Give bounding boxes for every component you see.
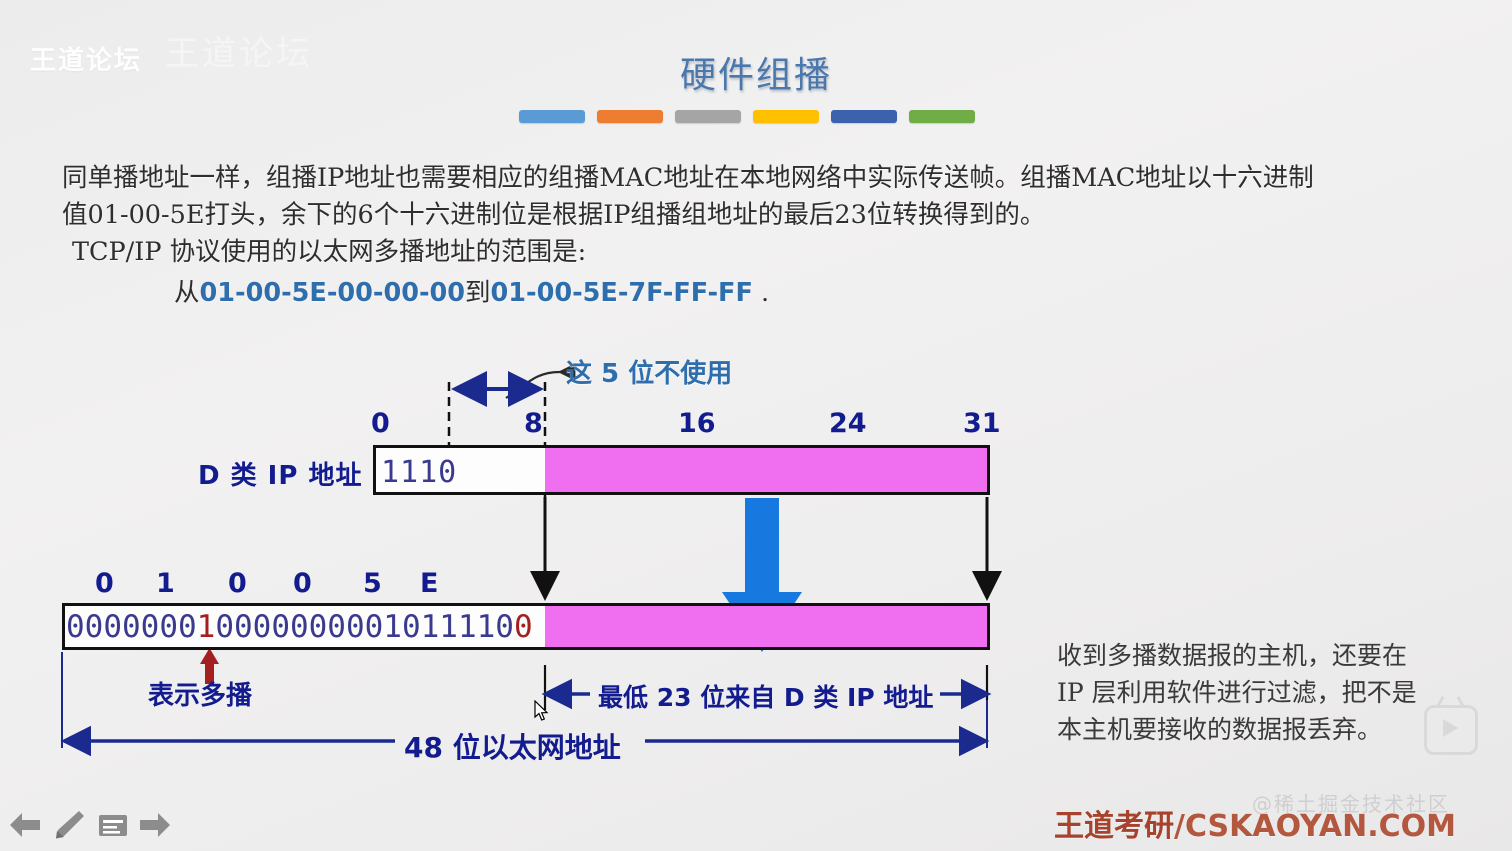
video-play-icon[interactable] — [1424, 705, 1478, 755]
mac-byte3: 01011110 — [365, 609, 514, 645]
right-note-line-2: IP 层利用软件进行过滤，把不是 — [1057, 674, 1477, 711]
bottom-toolbar — [0, 799, 1512, 851]
body-paragraph: 同单播地址一样，组播IP地址也需要相应的组播MAC地址在本地网络中实际传送帧。组… — [62, 160, 1422, 312]
low23-caption: 最低 23 位来自 D 类 IP 地址 — [598, 678, 933, 714]
ip-address-bar — [373, 445, 990, 495]
ip-tick-31: 31 — [963, 408, 1001, 439]
right-note: 收到多播数据报的主机，还要在 IP 层利用软件进行过滤，把不是 本主机要接收的数… — [1057, 637, 1477, 748]
mac-hex-label-5: E — [420, 568, 438, 599]
mac-hex-label-0: 0 — [95, 568, 114, 599]
multicast-flag-caption: 表示多播 — [148, 675, 252, 712]
range-mid: 到 — [465, 278, 491, 308]
notes-icon[interactable] — [96, 809, 130, 841]
total-bits-caption: 48 位以太网地址 — [404, 726, 621, 766]
right-note-line-3: 本主机要接收的数据报丢弃。 — [1057, 711, 1477, 748]
slide-canvas: 王道论坛 王道论坛 硬件组播 同单播地址一样，组播IP地址也需要相应的组播MAC… — [0, 0, 1512, 851]
mouse-cursor — [534, 700, 550, 722]
accent-bar-6 — [909, 110, 975, 123]
accent-bar-2 — [597, 110, 663, 123]
paragraph-line-2: 值01-00-5E打头，余下的6个十六进制位是根据IP组播组地址的最后23位转换… — [62, 197, 1422, 234]
ip-pink-region — [545, 448, 987, 492]
mac-hex-label-3: 0 — [293, 568, 312, 599]
next-arrow-icon[interactable] — [138, 809, 172, 841]
range-suffix: . — [753, 278, 769, 308]
mac-range-start: 01-00-5E-00-00-00 — [200, 278, 466, 308]
ip-prefix-bits: 1110 — [381, 455, 457, 490]
accent-bar-group — [519, 110, 975, 123]
ip-row-label: D 类 IP 地址 — [198, 455, 362, 492]
paragraph-line-4: 从01-00-5E-00-00-00到01-00-5E-7F-FF-FF . — [174, 275, 1422, 312]
mac-hex-label-2: 0 — [228, 568, 247, 599]
ip-tick-24: 24 — [829, 408, 867, 439]
prev-arrow-icon[interactable] — [8, 809, 42, 841]
mac-bit-string: 0000000100000000010111100 — [66, 611, 533, 643]
ip-tick-8: 8 — [524, 408, 543, 439]
mac-multicast-flag-bit: 1 — [197, 609, 216, 645]
accent-bar-1 — [519, 110, 585, 123]
right-note-line-1: 收到多播数据报的主机，还要在 — [1057, 637, 1477, 674]
accent-bar-5 — [831, 110, 897, 123]
paragraph-line-1: 同单播地址一样，组播IP地址也需要相应的组播MAC地址在本地网络中实际传送帧。组… — [62, 163, 1314, 193]
mac-pink-region — [545, 606, 987, 647]
accent-bar-3 — [675, 110, 741, 123]
pen-icon[interactable] — [52, 809, 86, 841]
mac-byte4-first-bit: 0 — [514, 609, 533, 645]
mac-range-end: 01-00-5E-7F-FF-FF — [491, 278, 753, 308]
mac-hex-label-4: 5 — [363, 568, 382, 599]
mac-byte1-prefix: 0000000 — [66, 609, 197, 645]
ip-tick-0: 0 — [371, 408, 390, 439]
ip-tick-16: 16 — [678, 408, 716, 439]
mac-byte2: 00000000 — [215, 609, 364, 645]
accent-bar-4 — [753, 110, 819, 123]
unused-bits-note: 这 5 位不使用 — [566, 353, 732, 390]
callout-curve — [506, 372, 560, 398]
paragraph-line-3: TCP/IP 协议使用的以太网多播地址的范围是: — [72, 234, 1422, 271]
range-prefix: 从 — [174, 278, 200, 308]
slide-title: 硬件组播 — [0, 46, 1512, 98]
mac-hex-label-1: 1 — [156, 568, 175, 599]
